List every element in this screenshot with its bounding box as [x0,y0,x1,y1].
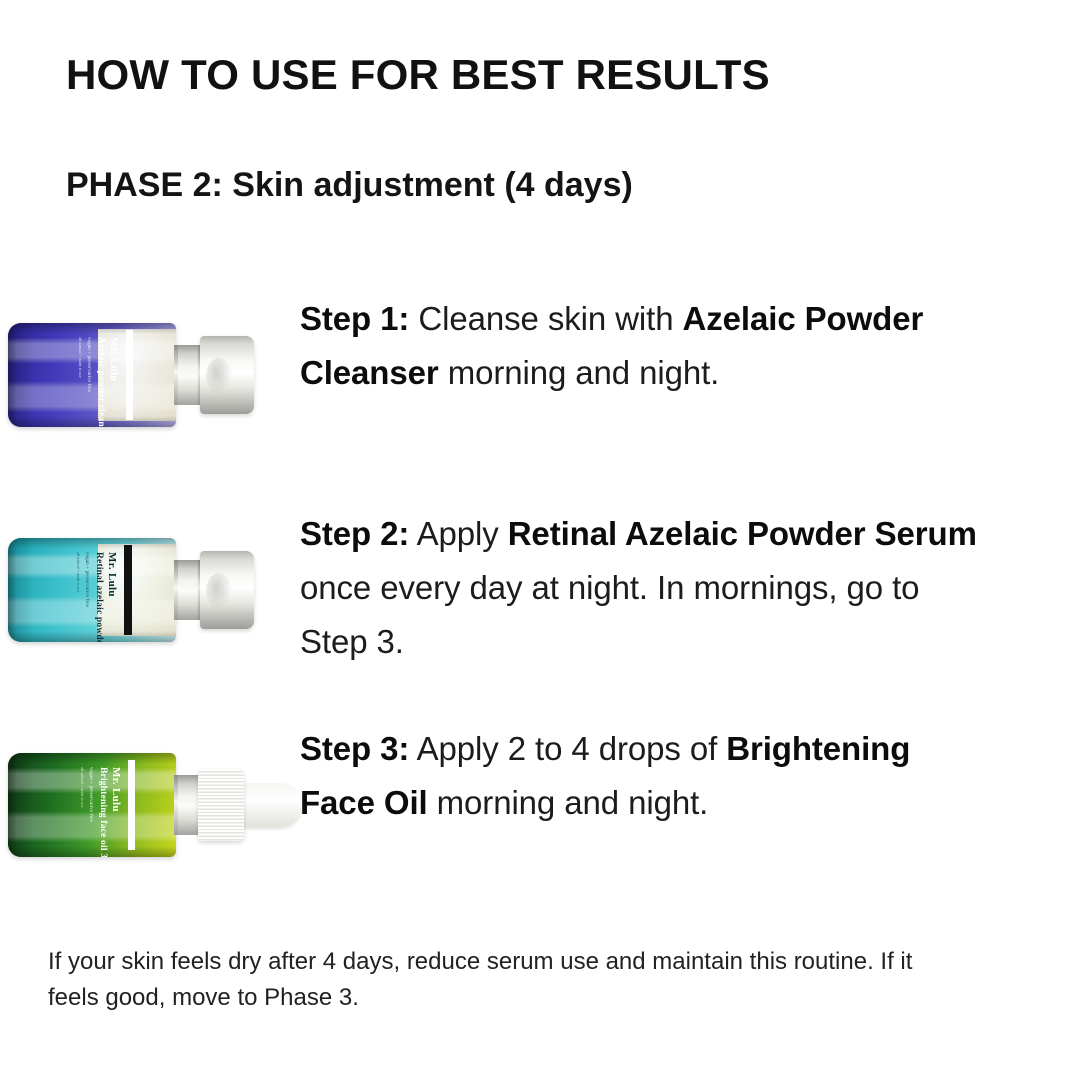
bottle-body: Mr. Lulu Azelaic powder cleanser 25g veg… [8,323,176,427]
step-text-before: Apply 2 to 4 drops of [409,730,726,767]
bottle-screw-cap [200,336,254,414]
footnote-text: If your skin feels dry after 4 days, red… [48,944,928,1016]
dropper-bulb [240,783,302,827]
bottle-label-stripe [128,760,135,850]
bottle-edge-shading [8,753,176,857]
step-row: Mr. Lulu Azelaic powder cleanser 25g veg… [0,280,1080,495]
step-text-after: morning and night. [428,784,709,821]
steps-list: Mr. Lulu Azelaic powder cleanser 25g veg… [0,280,1080,925]
bottle-azelaic-powder-cleanser: Mr. Lulu Azelaic powder cleanser 25g veg… [8,323,253,427]
bottle-retinal-azelaic-powder-serum: Mr. Lulu Retinal azelaic powder serum 25… [8,538,253,642]
bottle-body: Mr. Lulu Brightening face oil 30ml vegan… [8,753,176,857]
step-row: Mr. Lulu Brightening face oil 30ml vegan… [0,710,1080,925]
step-label: Step 3: [300,730,409,767]
phase-title: PHASE 2: Skin adjustment (4 days) [66,166,633,205]
bottle-label-stripe [124,545,132,635]
product-image-step-1: Mr. Lulu Azelaic powder cleanser 25g veg… [0,280,300,470]
bottle-body: Mr. Lulu Retinal azelaic powder serum 25… [8,538,176,642]
product-image-step-2: Mr. Lulu Retinal azelaic powder serum 25… [0,495,300,685]
step-label: Step 1: [300,300,409,337]
step-description: Step 3: Apply 2 to 4 drops of Brightenin… [300,710,980,830]
product-image-step-3: Mr. Lulu Brightening face oil 30ml vegan… [0,710,300,900]
bottle-label-stripe [126,330,133,420]
step-text-after: once every day at night. In mornings, go… [300,569,919,660]
bottle-neck-ring [174,560,178,620]
step-row: Mr. Lulu Retinal azelaic powder serum 25… [0,495,1080,710]
step-text-before: Apply [409,515,507,552]
product-name: Retinal Azelaic Powder Serum [508,515,977,552]
dropper-cap [198,769,244,841]
bottle-screw-cap [200,551,254,629]
step-label: Step 2: [300,515,409,552]
bottle-edge-shading [8,323,176,427]
bottle-brightening-face-oil: Mr. Lulu Brightening face oil 30ml vegan… [8,753,253,857]
instruction-card: HOW TO USE FOR BEST RESULTS PHASE 2: Ski… [0,0,1080,1080]
bottle-neck-ring [174,775,178,835]
step-text-before: Cleanse skin with [409,300,682,337]
bottle-edge-shading [8,538,176,642]
bottle-neck-ring [174,345,178,405]
step-description: Step 1: Cleanse skin with Azelaic Powder… [300,280,980,400]
step-text-after: morning and night. [439,354,720,391]
step-description: Step 2: Apply Retinal Azelaic Powder Ser… [300,495,980,669]
page-title: HOW TO USE FOR BEST RESULTS [66,52,770,98]
